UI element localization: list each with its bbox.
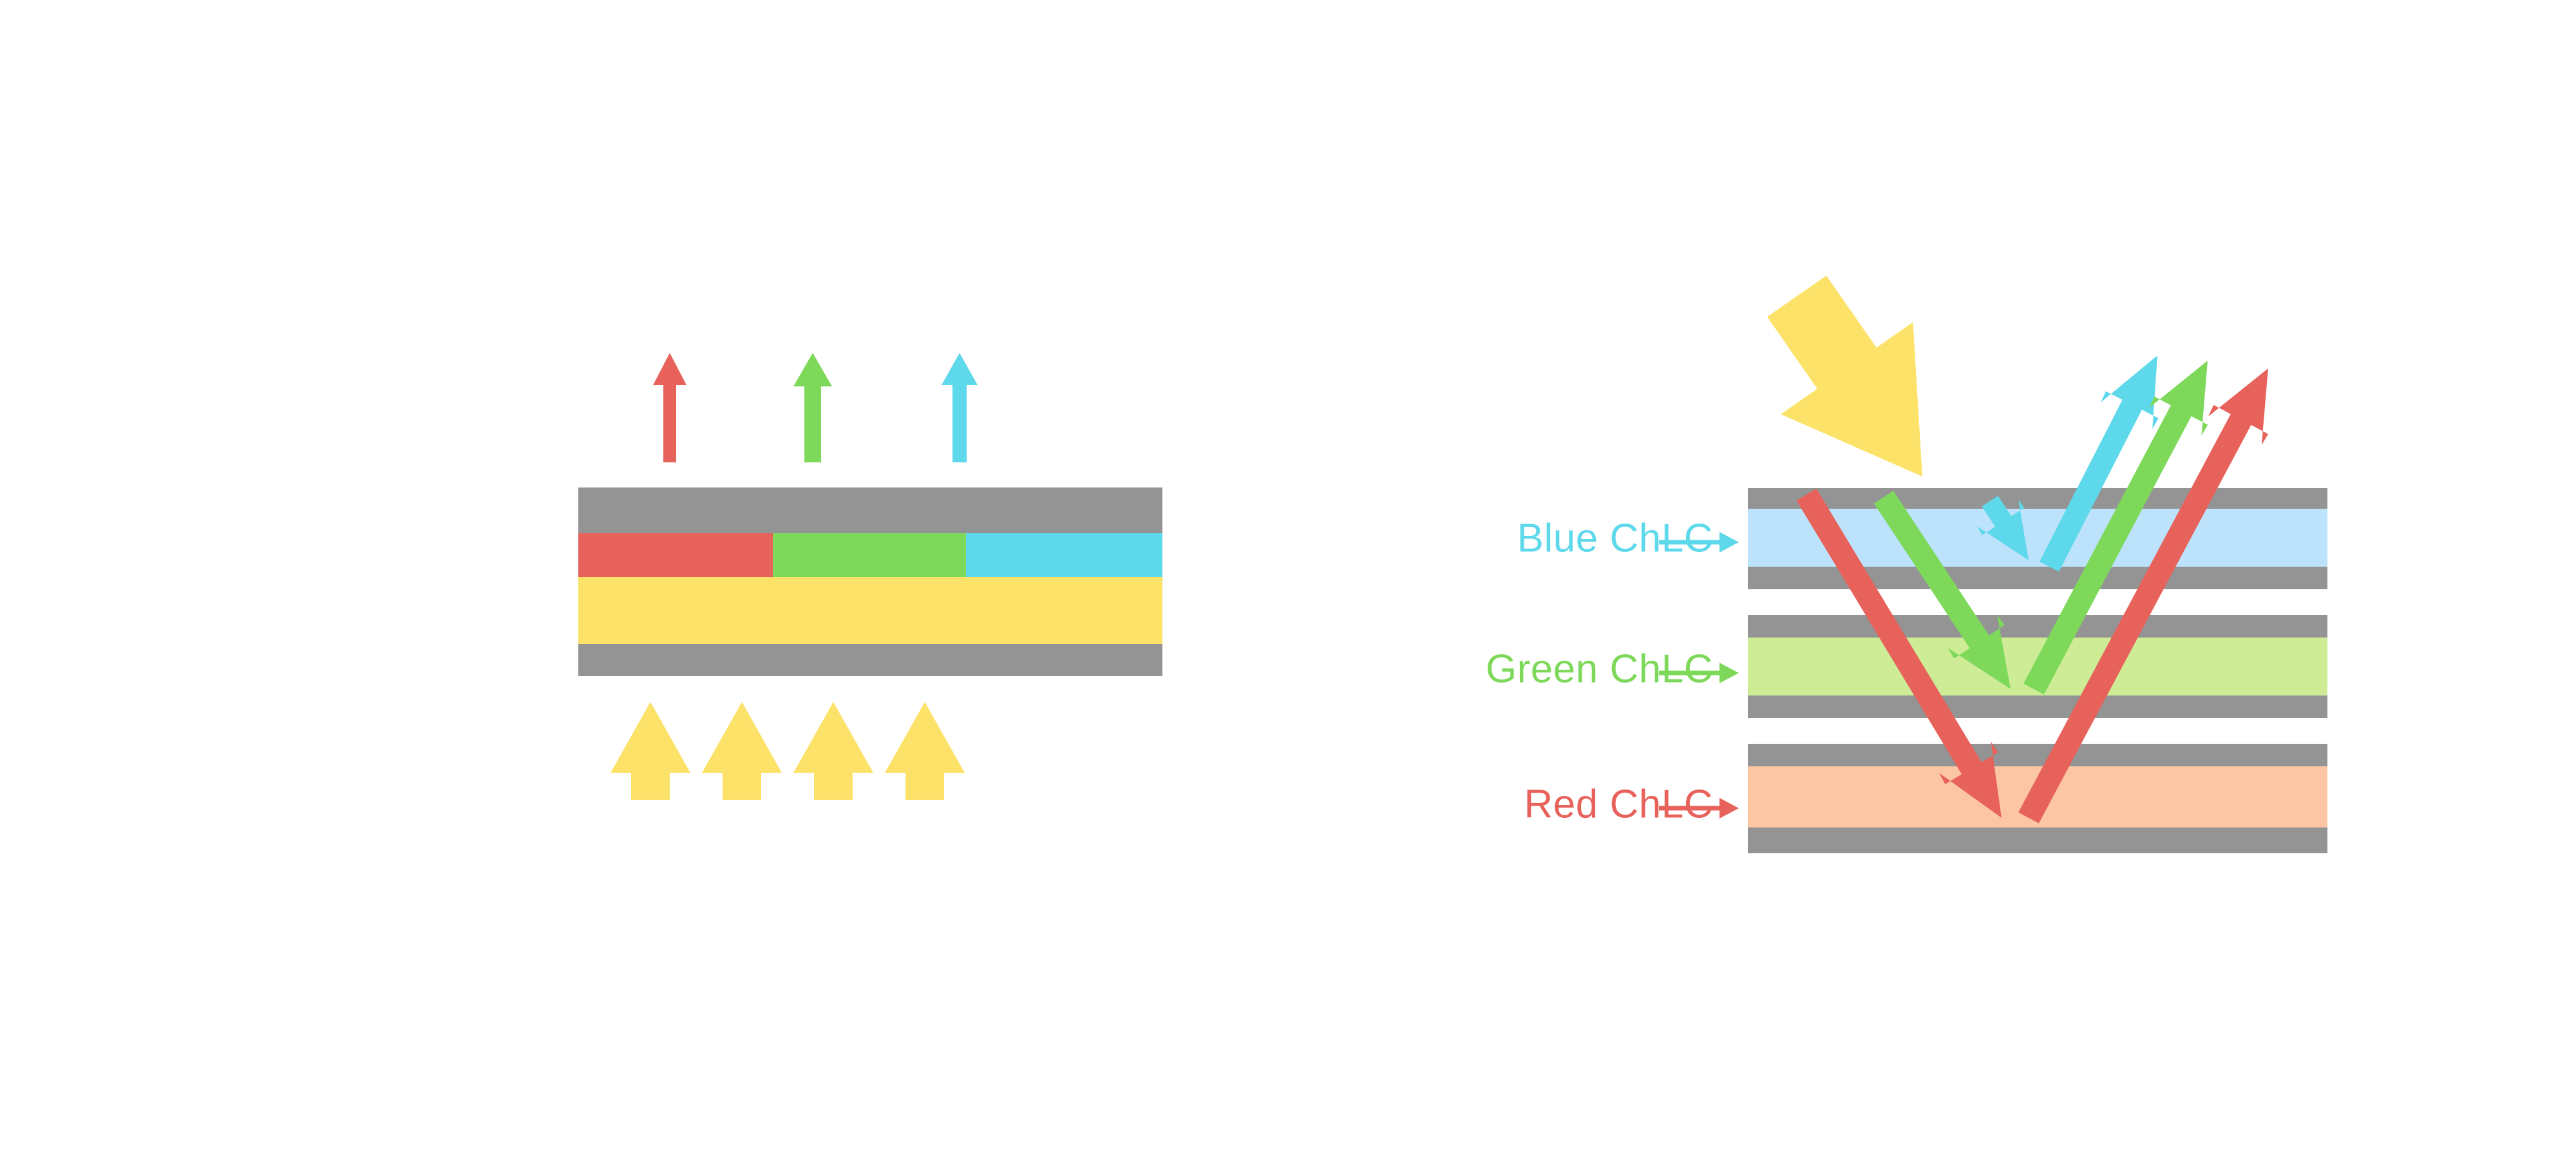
- emitted-red-arrow: [653, 353, 687, 462]
- figure-root: Blue ChLCGreen ChLCRed ChLC: [0, 0, 2576, 1154]
- left-stack: [578, 487, 1162, 676]
- red-cell-top-electrode: [1748, 744, 2327, 766]
- diagram-canvas: Blue ChLCGreen ChLCRed ChLC: [0, 0, 2576, 1154]
- emitted-green-arrow: [793, 353, 832, 462]
- right-panel-group: Blue ChLCGreen ChLCRed ChLC: [1486, 276, 2327, 853]
- green-cell-bottom-electrode: [1748, 695, 2327, 718]
- backlight-arrow-1: [611, 702, 690, 800]
- cyan-filter: [966, 533, 1162, 577]
- bottom-electrode: [578, 644, 1162, 676]
- red-chlc-label: Red ChLC: [1524, 782, 1713, 826]
- red-chlc-pointer-arrow-icon: [1719, 798, 1739, 818]
- emitted-blue-arrow: [942, 353, 978, 462]
- red-filter: [578, 533, 773, 577]
- blue-cell-top-electrode: [1748, 488, 2327, 509]
- green-cell-top-electrode: [1748, 615, 2327, 638]
- right-layer-labels: Blue ChLCGreen ChLCRed ChLC: [1486, 516, 1739, 826]
- top-electrode: [578, 487, 1162, 533]
- backlight-layer: [578, 577, 1162, 644]
- green-chlc-pointer-arrow-icon: [1719, 663, 1739, 683]
- blue-chlc-label: Blue ChLC: [1517, 516, 1713, 560]
- left-backlight-arrows: [611, 702, 965, 800]
- blue-chlc-pointer-arrow-icon: [1719, 532, 1739, 553]
- backlight-arrow-2: [702, 702, 782, 800]
- blue-cell-bottom-electrode: [1748, 567, 2327, 589]
- left-panel-group: [578, 353, 1162, 800]
- left-emitted-arrows: [653, 353, 978, 462]
- backlight-arrow-3: [793, 702, 873, 800]
- ambient-white-light-arrow: [1767, 276, 1922, 477]
- red-cell-bottom-electrode: [1748, 828, 2327, 853]
- green-chlc-label: Green ChLC: [1486, 647, 1713, 691]
- green-filter: [773, 533, 966, 577]
- backlight-arrow-4: [885, 702, 965, 800]
- ambient-light-arrow-group: [1767, 276, 1922, 477]
